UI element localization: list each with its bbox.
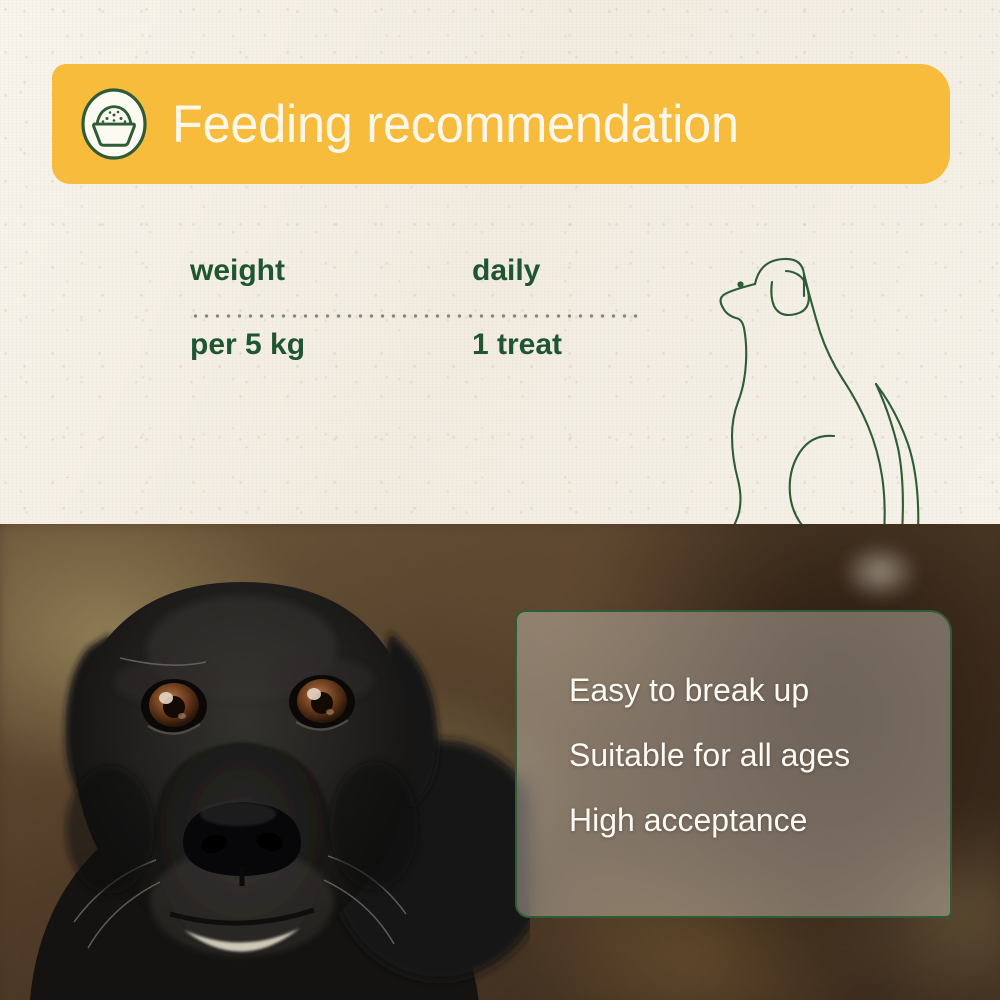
column-header-weight: weight xyxy=(190,256,472,286)
photo-highlight-spot xyxy=(840,542,920,602)
product-info-card: Feeding recommendation weight daily per … xyxy=(0,0,1000,1000)
sitting-dog-line-art xyxy=(662,244,952,536)
table-divider xyxy=(190,314,638,318)
cell-weight-value: per 5 kg xyxy=(190,330,472,360)
feeding-table: weight daily per 5 kg 1 treat xyxy=(190,256,640,378)
benefit-item-3: High acceptance xyxy=(569,804,950,836)
labrador-dog-subject xyxy=(0,530,530,1000)
table-header-row: weight daily xyxy=(190,256,640,304)
column-header-daily: daily xyxy=(472,256,640,286)
food-bowl-icon xyxy=(78,88,150,160)
benefits-panel: Easy to break up Suitable for all ages H… xyxy=(515,610,952,918)
feeding-recommendation-banner: Feeding recommendation xyxy=(52,64,950,184)
benefit-item-2: Suitable for all ages xyxy=(569,739,950,771)
table-row: per 5 kg 1 treat xyxy=(190,330,640,378)
benefit-item-1: Easy to break up xyxy=(569,674,950,706)
banner-title: Feeding recommendation xyxy=(172,98,739,151)
cell-daily-value: 1 treat xyxy=(472,330,640,360)
